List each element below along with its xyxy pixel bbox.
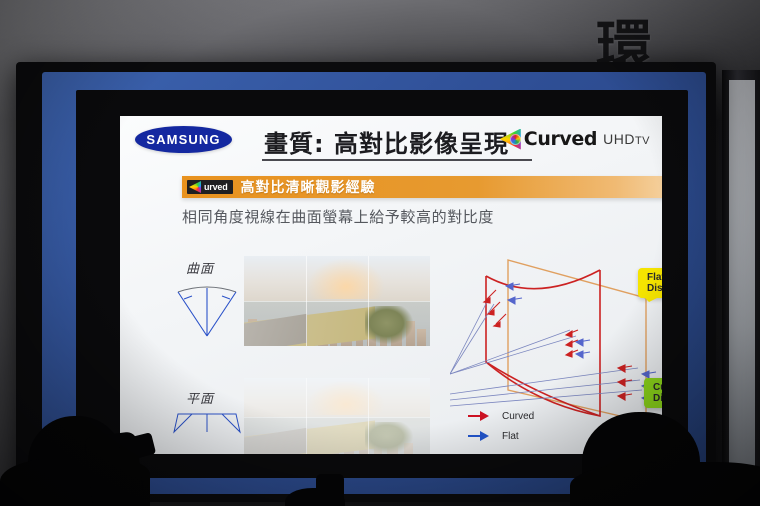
callout-flat-display: Flat Display <box>638 268 662 298</box>
tv-text: TV <box>635 135 650 147</box>
samsung-logo: SAMSUNG <box>135 126 232 153</box>
curved-uhdtv-logo: Curved UHDTV <box>500 128 650 150</box>
banner-curved-badge: urved <box>187 180 233 194</box>
samsung-logo-text: SAMSUNG <box>146 132 220 147</box>
silhouette-object <box>316 474 344 506</box>
legend-item-flat: Flat <box>468 426 534 446</box>
label-curved: 曲面 <box>186 258 214 277</box>
banner-badge-text: urved <box>204 182 228 192</box>
uhd-logo-curved-text: Curved <box>524 128 597 150</box>
badge-prism-icon <box>189 181 201 193</box>
uhd-logo-suffix: UHDTV <box>603 131 650 147</box>
legend-label-flat: Flat <box>502 431 519 442</box>
callout-curved-display: Curved Display <box>644 378 662 408</box>
prism-icon <box>500 129 521 150</box>
title-underline <box>262 159 532 161</box>
section-banner: urved 高對比清晰觀影經驗 <box>182 176 662 198</box>
flat-arrow-icon <box>468 431 494 441</box>
silhouette-person-right-body <box>570 462 760 506</box>
photo-scene: 環 繞 SAMSUNG 畫質: 高對比影像呈現 <box>0 0 760 506</box>
legend-item-curved: Curved <box>468 406 534 426</box>
right-display-screen <box>729 80 755 490</box>
banner-headline: 高對比清晰觀影經驗 <box>241 177 376 197</box>
label-flat: 平面 <box>186 388 214 407</box>
uhd-text: UHD <box>603 131 635 147</box>
curved-viewing-angle-diagram <box>174 278 240 340</box>
slide-subtitle: 相同角度視線在曲面螢幕上給予較高的對比度 <box>182 206 494 227</box>
tv-inner-frame: SAMSUNG 畫質: 高對比影像呈現 Curved UHDTV <box>76 90 688 478</box>
legend-label-curved: Curved <box>502 411 534 422</box>
diagram-legend: Curved Flat <box>468 406 534 446</box>
flat-viewing-angle-diagram <box>172 408 242 438</box>
photo-low-contrast <box>244 378 430 454</box>
curved-arrow-icon <box>468 411 494 421</box>
slide-title: 畫質: 高對比影像呈現 <box>264 124 509 159</box>
photo-high-contrast <box>244 256 430 346</box>
presentation-slide: SAMSUNG 畫質: 高對比影像呈現 Curved UHDTV <box>120 116 662 454</box>
